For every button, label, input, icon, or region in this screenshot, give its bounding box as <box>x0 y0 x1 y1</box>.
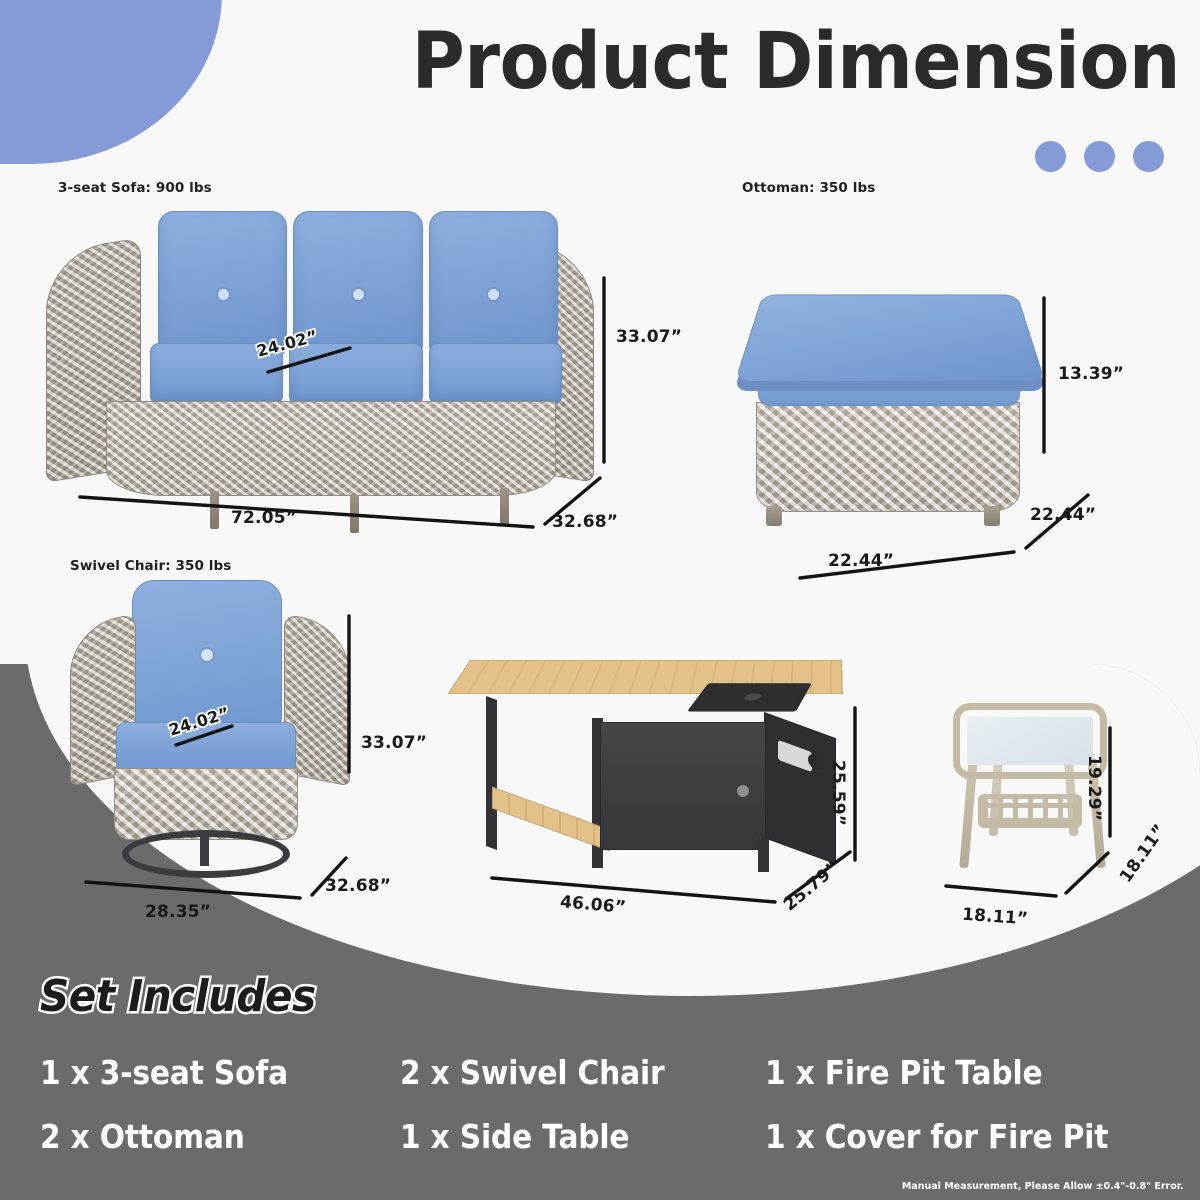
sofa-wicker-base <box>106 401 556 496</box>
page-title-wrapper: Product Dimension <box>330 14 1180 110</box>
ottoman-height-label: 13.39” <box>1058 364 1124 384</box>
swivel-height-label: 33.07” <box>361 733 427 753</box>
caption-sofa: 3-seat Sofa: 900 lbs <box>58 180 212 196</box>
sofa-leg-2 <box>350 495 359 533</box>
caption-swivel-chair: Swivel Chair: 350 lbs <box>70 558 231 574</box>
caption-ottoman: Ottoman: 350 lbs <box>742 180 875 196</box>
ottoman-wicker-base <box>756 402 1020 512</box>
page-title: Product Dimension <box>390 14 1181 110</box>
firepit-cabinet-door <box>600 722 766 850</box>
swivel-width-label: 28.35” <box>145 902 211 922</box>
sofa-seat-cushion-3 <box>429 343 562 405</box>
list-item: 1 x Fire Pit Table <box>765 1052 1130 1094</box>
swivel-seat-cushion <box>116 722 296 774</box>
corner-blob-decoration <box>0 0 222 164</box>
dot-indicator-1 <box>1035 141 1066 172</box>
set-includes-list: 1 x 3-seat Sofa 2 x Swivel Chair 1 x Fir… <box>40 1052 1170 1158</box>
ottoman-width-label: 22.44” <box>828 551 894 571</box>
ottoman-foot-left <box>766 506 782 526</box>
side-table-height-label: 19.29” <box>1084 755 1104 821</box>
sofa-seat-cushion-2 <box>289 343 422 405</box>
list-item: 1 x Cover for Fire Pit <box>765 1116 1130 1158</box>
ottoman-illustration <box>742 262 1042 537</box>
sofa-back-cushion-1 <box>158 211 287 356</box>
firepit-leg-left <box>486 696 497 850</box>
list-item: 2 x Ottoman <box>40 1116 364 1158</box>
sofa-leg-1 <box>210 491 219 529</box>
infographic-canvas: Product Dimension 3-seat Sofa: 900 lbs O… <box>0 0 1200 1200</box>
measurement-disclaimer: Manual Measurement, Please Allow ±0.4"-0… <box>902 1181 1184 1192</box>
swivel-ring-base <box>122 830 290 878</box>
side-table-leg-front-left <box>959 758 978 868</box>
sofa-leg-3 <box>500 488 509 526</box>
swivel-depth-label: 32.68” <box>325 876 391 896</box>
dot-indicator-2 <box>1084 141 1115 172</box>
dot-indicator-group <box>1035 141 1164 172</box>
firepit-height-label: 25.59” <box>828 760 848 826</box>
sofa-back-cushion-3 <box>429 211 558 356</box>
ottoman-depth-label: 22.44” <box>1030 505 1096 525</box>
firepit-leg-right <box>758 838 769 872</box>
sofa-depth-label: 32.68” <box>552 512 618 532</box>
sofa-illustration <box>40 205 600 505</box>
ottoman-foot-right <box>984 506 1000 526</box>
dot-indicator-3 <box>1133 141 1164 172</box>
side-table-lower-shelf <box>978 794 1082 828</box>
sofa-back-cushions <box>158 211 558 356</box>
ottoman-cushion-top <box>735 295 1046 382</box>
set-includes-title: Set Includes <box>40 972 316 1022</box>
firepit-burner-plate <box>687 683 812 711</box>
list-item: 1 x 3-seat Sofa <box>40 1052 364 1094</box>
firepit-side-wall <box>764 712 836 864</box>
swivel-back-cushion <box>132 580 282 730</box>
sofa-seat-cushions <box>150 343 562 405</box>
side-table-glass-top <box>960 710 1100 772</box>
fire-pit-table-illustration <box>470 660 860 875</box>
swivel-chair-illustration <box>70 580 350 890</box>
list-item: 2 x Swivel Chair <box>400 1052 729 1094</box>
sofa-height-label: 33.07” <box>616 327 682 347</box>
list-item: 1 x Side Table <box>400 1116 729 1158</box>
sofa-width-label: 72.05” <box>231 508 297 528</box>
